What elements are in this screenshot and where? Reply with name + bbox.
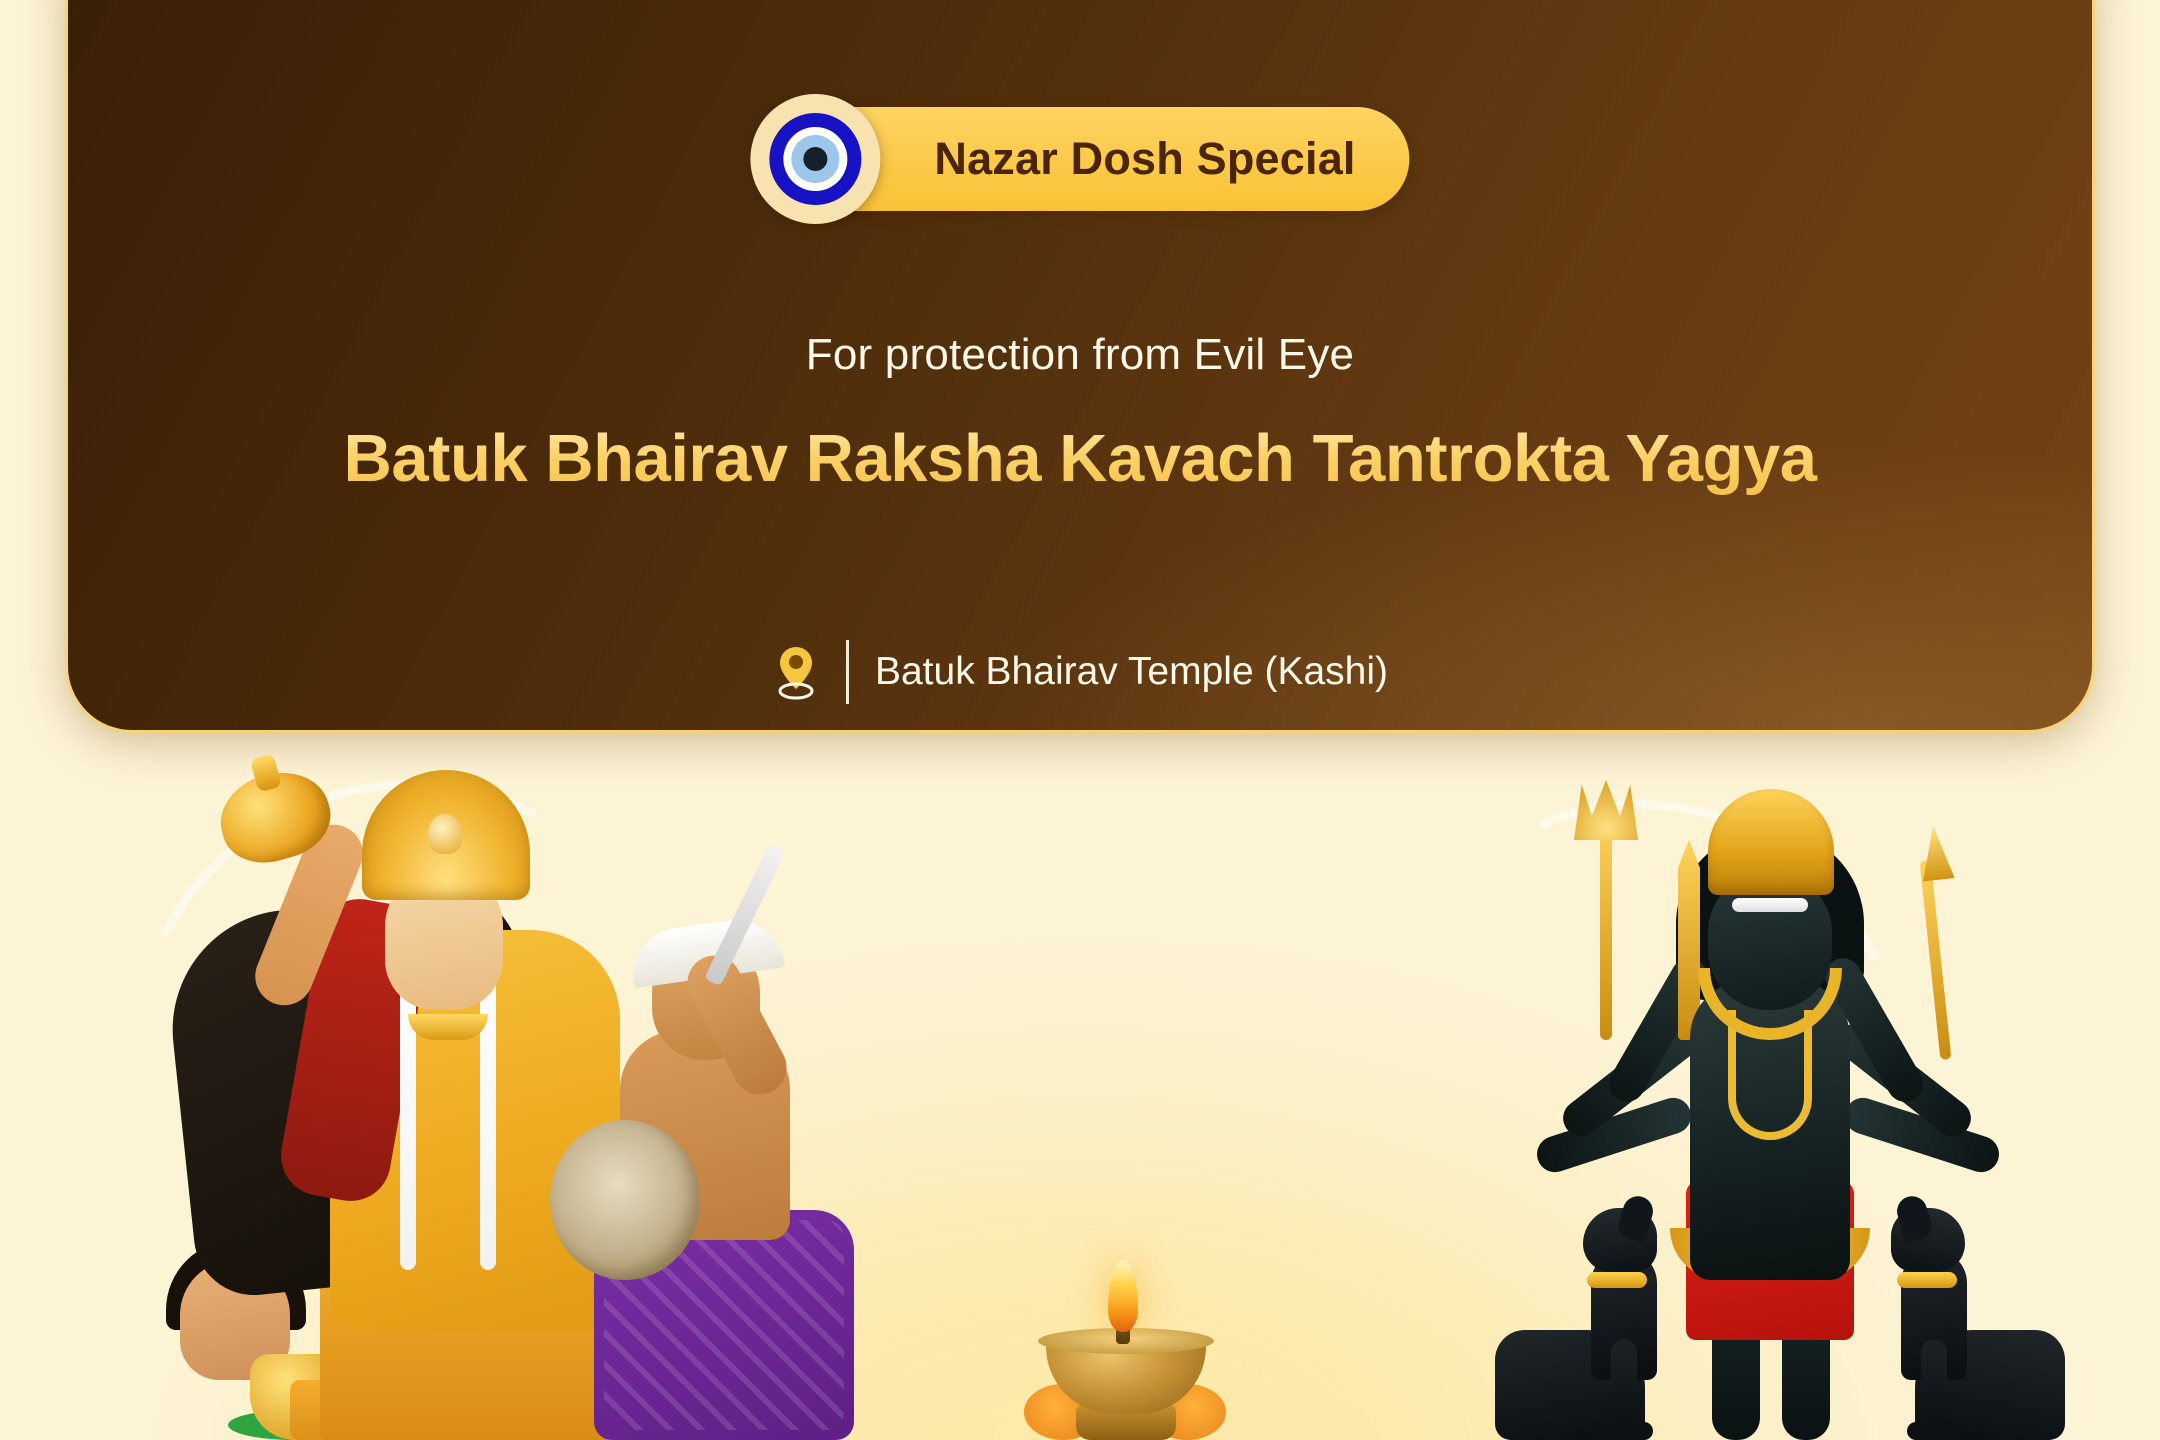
hero-subtitle: For protection from Evil Eye bbox=[68, 330, 2092, 380]
location-name: Batuk Bhairav Temple (Kashi) bbox=[875, 650, 1388, 694]
page-title: Batuk Bhairav Raksha Kavach Tantrokta Ya… bbox=[68, 420, 2092, 497]
batuk-bhairav-figure bbox=[1500, 650, 2040, 1440]
diya-oil-lamp bbox=[1030, 1290, 1220, 1440]
map-pin-icon bbox=[772, 643, 820, 701]
badge-label: Nazar Dosh Special bbox=[934, 133, 1355, 185]
kneeling-demon-figure bbox=[560, 880, 890, 1440]
bhairav-crown bbox=[1708, 789, 1834, 895]
bhairav-spear bbox=[1920, 860, 1952, 1060]
special-badge[interactable]: Nazar Dosh Special bbox=[750, 100, 1409, 218]
location-row: Batuk Bhairav Temple (Kashi) bbox=[68, 640, 2092, 704]
location-divider bbox=[846, 640, 849, 704]
evil-eye-ring-lightblue bbox=[791, 135, 839, 183]
evil-eye-icon bbox=[750, 94, 880, 224]
bhairav-tilak bbox=[1732, 898, 1808, 912]
trishul-staff bbox=[1600, 820, 1612, 1040]
evil-eye-ring-blue bbox=[769, 113, 861, 205]
crown-jewel bbox=[428, 814, 462, 854]
evil-eye-pupil bbox=[803, 147, 827, 171]
trishul-head bbox=[1574, 780, 1638, 840]
demon-shield bbox=[550, 1120, 700, 1280]
evil-eye-ring-white bbox=[783, 127, 847, 191]
